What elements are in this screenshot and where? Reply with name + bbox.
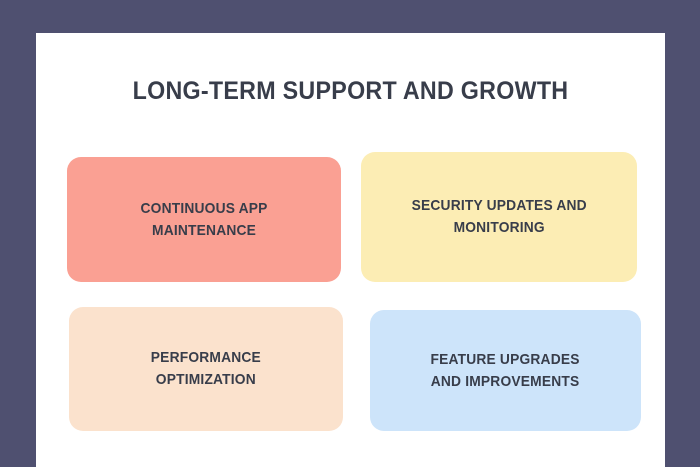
card-label: PERFORMANCE OPTIMIZATION	[151, 347, 261, 391]
card-label: CONTINUOUS APP MAINTENANCE	[140, 198, 267, 242]
card-label-line2: MONITORING	[453, 219, 544, 236]
card-label-line2: AND IMPROVEMENTS	[431, 373, 580, 390]
card-label-line1: PERFORMANCE	[151, 349, 261, 366]
card-continuous-app-maintenance[interactable]: CONTINUOUS APP MAINTENANCE	[67, 157, 341, 282]
card-label-line1: SECURITY UPDATES AND	[411, 197, 586, 214]
card-performance-optimization[interactable]: PERFORMANCE OPTIMIZATION	[69, 307, 343, 431]
slide-canvas: LONG-TERM SUPPORT AND GROWTH CONTINUOUS …	[0, 0, 700, 467]
card-label-line1: CONTINUOUS APP	[140, 200, 267, 217]
card-label: SECURITY UPDATES AND MONITORING	[411, 195, 586, 239]
card-label-line2: MAINTENANCE	[152, 222, 256, 239]
card-label-line1: FEATURE UPGRADES	[431, 351, 580, 368]
card-label-line2: OPTIMIZATION	[156, 371, 256, 388]
card-feature-upgrades-and-improvements[interactable]: FEATURE UPGRADES AND IMPROVEMENTS	[370, 310, 641, 431]
card-security-updates-and-monitoring[interactable]: SECURITY UPDATES AND MONITORING	[361, 152, 637, 282]
page-title: LONG-TERM SUPPORT AND GROWTH	[58, 77, 643, 106]
slide-panel: LONG-TERM SUPPORT AND GROWTH CONTINUOUS …	[36, 33, 665, 467]
card-label: FEATURE UPGRADES AND IMPROVEMENTS	[431, 349, 580, 393]
